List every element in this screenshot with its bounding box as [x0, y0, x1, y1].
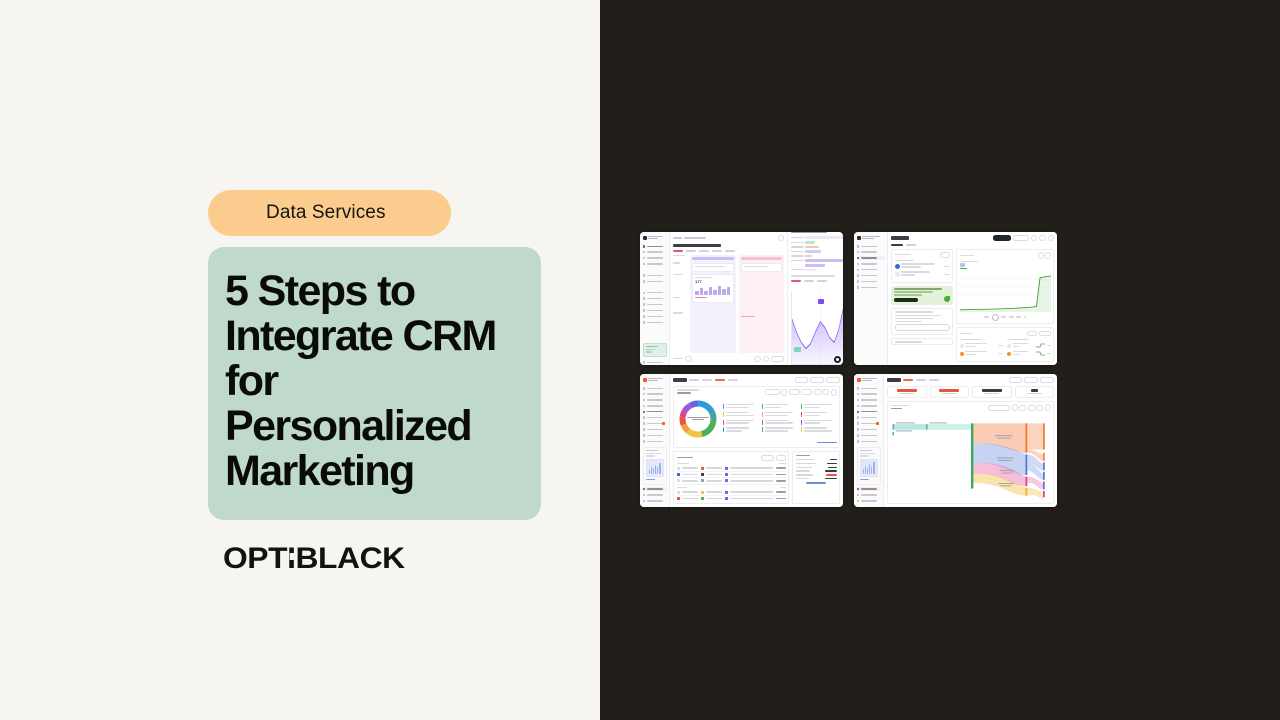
kpi-card[interactable]: [930, 386, 970, 398]
more-options-icon[interactable]: [778, 235, 785, 242]
mover-row[interactable]: [960, 343, 1004, 349]
cashflow-title: [887, 378, 901, 381]
reports-title: [673, 378, 687, 381]
dashboard-thumbnail-grid: 177: [640, 232, 1060, 507]
assets-view-all-button[interactable]: [940, 252, 950, 258]
mini-pagination[interactable]: [673, 356, 784, 363]
period-prev-button[interactable]: [789, 389, 800, 395]
secondary-action-button[interactable]: [1013, 235, 1029, 242]
sidebar-upsell-card[interactable]: [643, 343, 667, 358]
chart-expand-icon[interactable]: [1038, 252, 1044, 259]
record-avatar[interactable]: [834, 356, 841, 363]
mover-icon-2: [960, 352, 964, 356]
group-by-select[interactable]: [765, 389, 780, 395]
mover-row-4[interactable]: [1007, 351, 1051, 357]
app-logo-icon-3: [643, 377, 667, 382]
app-logo-icon-4: [857, 377, 881, 382]
kanban-column-header-2: [741, 257, 783, 261]
portfolio-grid: [891, 249, 1054, 363]
legend-item[interactable]: [801, 427, 837, 433]
mini-app-crm: 177: [640, 232, 843, 365]
summary-row: [796, 474, 837, 475]
page-title: 5 Steps to Integrate CRM for Personalize…: [225, 269, 517, 494]
donut-legend: [723, 404, 837, 434]
kanban-card[interactable]: [692, 263, 734, 272]
gear-icon[interactable]: [1031, 235, 1038, 242]
legend-item[interactable]: [723, 404, 759, 410]
asset-row-2[interactable]: [895, 271, 950, 277]
chart-overflow-icon[interactable]: [831, 389, 837, 396]
summary-row: [796, 459, 837, 460]
detail-field-tags-2[interactable]: [791, 264, 844, 267]
leaf-icon: [944, 296, 950, 302]
portfolio-value-chart: [960, 271, 1051, 312]
chart-range-selector[interactable]: [960, 314, 1051, 321]
engagement-area-chart: [791, 291, 844, 365]
export-button-2[interactable]: [1040, 377, 1054, 384]
kanban-row-labels: [673, 255, 687, 353]
chart-value-badge: [960, 263, 965, 267]
mini-sidebar-reports: [640, 374, 670, 507]
legend-item[interactable]: [801, 404, 837, 410]
summary-row: [796, 470, 837, 471]
export-button[interactable]: [826, 377, 840, 384]
detail-field-source[interactable]: [791, 255, 844, 258]
period-next-button[interactable]: [801, 389, 812, 395]
view-list-button[interactable]: [822, 389, 829, 395]
chart-tooltip: [818, 299, 824, 304]
thumbnail-crm-pipeline[interactable]: 177: [640, 232, 843, 365]
green-area-svg: [960, 271, 1051, 312]
add-icon[interactable]: [685, 356, 692, 363]
detail-field-tags[interactable]: [791, 259, 844, 262]
sankey-download-button[interactable]: [1028, 405, 1035, 411]
mini-sidebar: [640, 232, 670, 365]
kanban-card-2[interactable]: [741, 263, 783, 272]
area-chart-svg: [792, 291, 844, 364]
mini-app-reports: [640, 374, 843, 507]
bell-icon[interactable]: [1039, 235, 1046, 242]
cash-flow-sankey-diagram: [891, 413, 1051, 501]
kanban-column-header: [692, 257, 734, 261]
mini-nav-cashflow[interactable]: [857, 386, 881, 444]
mini-nav-group-3[interactable]: [643, 291, 667, 325]
spending-breakdown-card: [673, 386, 840, 449]
sankey-chevron-icon[interactable]: [1012, 404, 1018, 411]
sparkline: [695, 285, 731, 295]
legend-item[interactable]: [723, 427, 759, 433]
kanban-card-metric[interactable]: 177: [692, 274, 734, 303]
promo-cta-button[interactable]: [894, 298, 918, 303]
nav-section-label-2: [643, 287, 667, 289]
next-page-icon[interactable]: [763, 356, 770, 363]
breadcrumb: [673, 235, 784, 241]
mini-tabbar[interactable]: [673, 250, 784, 252]
kanban-column-in-progress[interactable]: 177: [690, 255, 736, 353]
legend-item[interactable]: [801, 420, 837, 426]
movers-view-all-button[interactable]: [1039, 331, 1051, 337]
sankey-view-toggle[interactable]: [1019, 405, 1026, 411]
mini-sidebar-cashflow: [854, 374, 884, 507]
category-badge: Data Services: [208, 190, 451, 236]
detail-field[interactable]: [791, 236, 844, 239]
date-range-button-2[interactable]: [1009, 377, 1022, 384]
summary-row: [796, 463, 837, 464]
mini-nav-group-2[interactable]: [643, 273, 667, 283]
date-range-button[interactable]: [795, 377, 808, 384]
mini-main-crm: 177: [670, 232, 787, 365]
primary-action-button[interactable]: [993, 235, 1011, 242]
portfolio-chart-card: [956, 249, 1054, 325]
sankey-card: [887, 401, 1054, 504]
table-row[interactable]: [677, 496, 786, 501]
chevron-left-icon[interactable]: [781, 389, 787, 396]
sankey-share-button[interactable]: [1036, 405, 1043, 411]
legend-item[interactable]: [801, 412, 837, 418]
insight-action-button[interactable]: [895, 324, 950, 331]
mini-nav-footer[interactable]: [643, 360, 667, 365]
legend-item[interactable]: [762, 412, 798, 418]
summary-panel: [792, 451, 840, 504]
movers-filter-button[interactable]: [1027, 331, 1037, 337]
asset-icon-2: [895, 272, 900, 277]
asset-row[interactable]: [895, 263, 950, 269]
detail-field-owner[interactable]: [791, 246, 844, 249]
top-gainers-col: [960, 339, 1004, 359]
thumbnail-crypto-portfolio[interactable]: [854, 232, 1057, 365]
promo-preview-image: [646, 459, 664, 477]
mini-app-cashflow: [854, 374, 1057, 507]
detail-field-status[interactable]: [791, 241, 844, 244]
right-showcase-panel: 177: [600, 0, 1280, 720]
thumbnail-cash-flow-sankey[interactable]: [854, 374, 1057, 507]
mini-main-cashflow: [884, 374, 1057, 507]
sankey-group-select[interactable]: [988, 405, 1010, 411]
detail-metric: [791, 285, 844, 289]
promo-preview-image-2: [860, 459, 878, 477]
footer-card[interactable]: [891, 338, 953, 345]
nav-section-label: [643, 269, 667, 271]
brand-logo: OPTIBLACK: [208, 542, 548, 576]
summary-row: [796, 467, 837, 468]
asset-icon: [895, 264, 900, 269]
legend-item[interactable]: [723, 420, 759, 426]
reports-tabs[interactable]: [689, 379, 738, 381]
transactions-section: [673, 451, 840, 504]
portfolio-left-col: [891, 249, 953, 363]
mini-nav-reports[interactable]: [643, 386, 667, 444]
mover-icon-3: [1007, 344, 1011, 348]
sidebar-promo-card-2[interactable]: [857, 447, 881, 485]
cashflow-tabs[interactable]: [903, 379, 939, 381]
mover-sparkline: [1036, 343, 1045, 348]
promo-card[interactable]: [891, 286, 953, 305]
kpi-row: [887, 386, 1054, 398]
mini-app-portfolio: [854, 232, 1057, 365]
legend-item[interactable]: [762, 404, 798, 410]
kanban-column-completed[interactable]: [739, 255, 785, 353]
mini-main-portfolio: [888, 232, 1057, 365]
detail-tabbar[interactable]: [791, 280, 844, 282]
kanban-board: 177: [673, 255, 784, 353]
mini-nav[interactable]: [643, 244, 667, 266]
mover-row-2[interactable]: [960, 351, 1004, 357]
filters-button[interactable]: [810, 377, 824, 384]
sidebar-promo-card[interactable]: [643, 447, 667, 485]
chart-annotation: [794, 347, 801, 352]
kpi-card[interactable]: [1015, 386, 1055, 398]
movers-card: [956, 327, 1054, 362]
top-losers-col: [1007, 339, 1051, 359]
headline-card: 5 Steps to Integrate CRM for Personalize…: [208, 247, 541, 520]
portfolio-right-col: [956, 249, 1054, 363]
transactions-filter-button[interactable]: [761, 455, 774, 461]
thumbnail-spending-report[interactable]: [640, 374, 843, 507]
portfolio-tabs[interactable]: [891, 244, 1054, 246]
mover-icon-4: [1007, 352, 1011, 356]
donut-chart-section: [677, 398, 837, 440]
portfolio-topbar: [891, 235, 1054, 241]
summary-detail-link[interactable]: [806, 482, 826, 483]
mini-sidebar-portfolio: [854, 232, 888, 365]
show-all-categories-link[interactable]: [817, 442, 837, 443]
mover-row-3[interactable]: [1007, 343, 1051, 349]
mini-main-reports: [670, 374, 843, 507]
slide-root: Data Services 5 Steps to Integrate CRM f…: [0, 0, 1280, 720]
kpi-card[interactable]: [887, 386, 927, 398]
prev-page-icon[interactable]: [754, 356, 761, 363]
table-row[interactable]: [677, 478, 786, 484]
assets-card[interactable]: [891, 249, 953, 283]
logo-wordmark: OPTIBLACK: [223, 542, 405, 576]
sankey-svg: [891, 413, 1051, 501]
avatar[interactable]: [1048, 235, 1055, 242]
legend-item[interactable]: [723, 412, 759, 418]
mini-nav-cashflow-footer[interactable]: [857, 487, 881, 503]
sankey-overflow-icon[interactable]: [1045, 404, 1051, 411]
mini-nav-reports-footer[interactable]: [643, 487, 667, 503]
view-grid-button[interactable]: [814, 389, 821, 395]
cashflow-topbar: [887, 377, 1054, 383]
mover-sparkline-2: [1036, 351, 1045, 356]
left-stack: Data Services 5 Steps to Integrate CRM f…: [208, 190, 548, 576]
summary-row: [796, 478, 837, 479]
reports-topbar: [673, 377, 840, 383]
detail-field-stage[interactable]: [791, 250, 844, 253]
left-content-panel: Data Services 5 Steps to Integrate CRM f…: [0, 0, 600, 720]
page-size-select[interactable]: [771, 356, 784, 363]
app-logo-icon: [643, 235, 667, 240]
logo-b-notch: [290, 553, 294, 560]
donut-center-label: [677, 398, 719, 440]
transactions-sort-button[interactable]: [776, 455, 786, 461]
mini-nav-portfolio[interactable]: [857, 244, 885, 290]
portfolio-title: [891, 236, 909, 239]
transactions-table: [673, 451, 789, 504]
legend-item[interactable]: [762, 420, 798, 426]
detail-field-date[interactable]: [791, 269, 844, 272]
filters-button-2[interactable]: [1024, 377, 1038, 384]
app-logo-icon-2: [857, 235, 885, 240]
legend-item[interactable]: [762, 427, 798, 433]
chart-menu-icon[interactable]: [1045, 252, 1051, 259]
mover-icon: [960, 344, 964, 348]
detail-pane: [787, 232, 843, 365]
spending-donut-chart: [677, 398, 719, 440]
mini-page-title: [673, 244, 721, 247]
kpi-card[interactable]: [972, 386, 1012, 398]
insight-card[interactable]: [891, 308, 953, 335]
metric-value: 177: [695, 280, 731, 284]
